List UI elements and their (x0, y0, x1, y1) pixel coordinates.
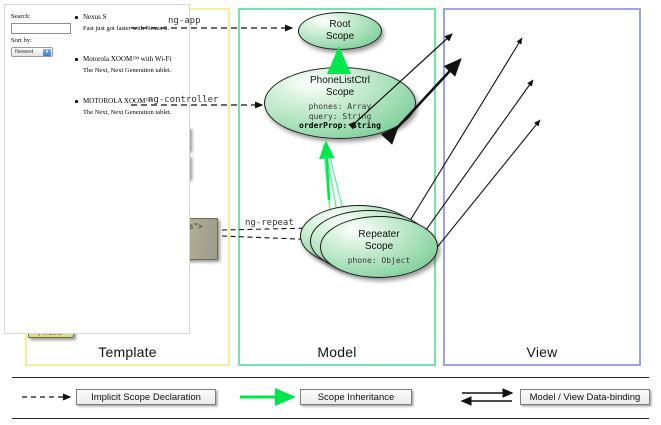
bullet-icon (75, 58, 78, 61)
chevron-down-icon: ▾ (43, 49, 51, 56)
legend-implicit-scope-declaration: Implicit Scope Declaration (76, 389, 216, 405)
phone-name: Nexus S (83, 13, 107, 21)
diagram-canvas: Template Model View <html ng-app> <body … (0, 0, 661, 425)
scope-phonelistctrl-props: phones: Array query: String orderProp: S… (299, 102, 381, 131)
scope-repeater: RepeaterScope phone: Object (320, 216, 438, 278)
view-sortby-value: Newest (15, 49, 33, 55)
legend-model-view-databinding: Model / View Data-binding (520, 389, 650, 405)
scope-phonelistctrl-title: PhoneListCtrlScope (310, 75, 370, 99)
phone-snippet: The Next, Next Generation tablet. (83, 109, 171, 116)
edge-label-ng-app: ng-app (168, 16, 201, 26)
edge-label-ng-controller: ng-controller (148, 95, 218, 105)
phone-snippet: The Next, Next Generation tablet. (83, 67, 171, 74)
panel-view-label: View (445, 344, 639, 360)
bullet-icon (75, 100, 78, 103)
panel-model-label: Model (240, 344, 434, 360)
phone-snippet: Fast just got faster with Nexus S. (83, 25, 169, 32)
scope-root-title: RootScope (326, 19, 354, 43)
legend-scope-inheritance: Scope Inheritance (300, 389, 412, 405)
legend-arrow-databinding (462, 393, 512, 401)
scope-root: RootScope (298, 12, 382, 50)
view-sortby-label: Sort by: (11, 37, 32, 44)
edge-label-ng-repeat: ng-repeat (245, 218, 294, 228)
view-sortby-select[interactable]: Newest ▾ (11, 47, 53, 57)
phone-name: MOTOROLA XOOM™ (83, 97, 152, 105)
scope-repeater-title: RepeaterScope (358, 229, 399, 253)
bullet-icon (75, 16, 78, 19)
phone-name: Motorola XOOM™ with Wi-Fi (83, 55, 171, 63)
panel-view: View (443, 8, 641, 366)
scope-repeater-props: phone: Object (348, 256, 411, 266)
view-mock: Search: Sort by: Newest ▾ Nexus S Fast j… (4, 4, 190, 334)
legend-divider-bottom (12, 418, 649, 419)
scope-phonelistctrl: PhoneListCtrlScope phones: Array query: … (264, 67, 416, 139)
panel-template-label: Template (27, 344, 228, 360)
panel-model: Model (238, 8, 436, 366)
legend-divider-top (12, 377, 649, 378)
view-search-label: Search: (11, 13, 31, 20)
view-search-input[interactable] (11, 23, 71, 34)
